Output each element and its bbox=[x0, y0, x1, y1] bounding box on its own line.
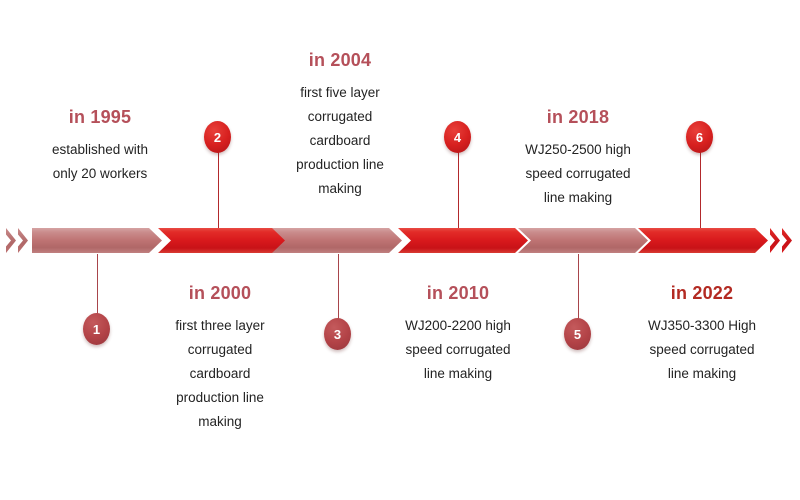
timeline-segment-6[interactable] bbox=[638, 228, 768, 253]
trail-chevron-outer-icon bbox=[782, 228, 793, 253]
entry-description-line: first five layer bbox=[250, 81, 430, 105]
entry-description-line: line making bbox=[368, 362, 548, 386]
entry-description-line: line making bbox=[612, 362, 792, 386]
marker-stem-3 bbox=[338, 254, 339, 319]
entry-year-label-1: in 1995 bbox=[10, 107, 190, 128]
entry-year-label-2: in 2000 bbox=[130, 283, 310, 304]
timeline-entry-3: in 2004first five layercorrugatedcardboa… bbox=[250, 50, 430, 201]
timeline-entry-2: in 2000first three layercorrugatedcardbo… bbox=[130, 283, 310, 434]
entry-description-line: first three layer bbox=[130, 314, 310, 338]
entry-description-line: only 20 workers bbox=[10, 162, 190, 186]
timeline-segment-2[interactable] bbox=[158, 228, 288, 253]
marker-stem-2 bbox=[218, 150, 219, 228]
entry-description-line: making bbox=[250, 177, 430, 201]
entry-description-line: WJ250-2500 high bbox=[488, 138, 668, 162]
timeline-marker-6[interactable]: 6 bbox=[686, 121, 713, 153]
timeline-marker-1[interactable]: 1 bbox=[83, 313, 110, 345]
entry-description-3: first five layercorrugatedcardboardprodu… bbox=[250, 81, 430, 201]
marker-stem-4 bbox=[458, 150, 459, 228]
marker-stem-6 bbox=[700, 150, 701, 228]
marker-stem-5 bbox=[578, 254, 579, 319]
timeline-segment-5[interactable] bbox=[518, 228, 648, 253]
entry-description-line: WJ200-2200 high bbox=[368, 314, 548, 338]
timeline-marker-4[interactable]: 4 bbox=[444, 121, 471, 153]
timeline-entry-5: in 2018WJ250-2500 highspeed corrugatedli… bbox=[488, 107, 668, 210]
entry-description-line: WJ350-3300 High bbox=[612, 314, 792, 338]
entry-description-line: established with bbox=[10, 138, 190, 162]
entry-description-line: line making bbox=[488, 186, 668, 210]
entry-description-line: corrugated bbox=[130, 338, 310, 362]
timeline-entry-4: in 2010WJ200-2200 highspeed corrugatedli… bbox=[368, 283, 548, 386]
entry-description-line: production line bbox=[250, 153, 430, 177]
entry-description-line: speed corrugated bbox=[612, 338, 792, 362]
timeline-infographic: 123456 in 1995established withonly 20 wo… bbox=[0, 0, 800, 500]
entry-description-line: production line bbox=[130, 386, 310, 410]
entry-description-line: corrugated bbox=[250, 105, 430, 129]
entry-year-label-4: in 2010 bbox=[368, 283, 548, 304]
lead-chevron-outer-icon bbox=[6, 228, 17, 253]
marker-stem-1 bbox=[97, 254, 98, 314]
entry-description-line: speed corrugated bbox=[368, 338, 548, 362]
timeline-entry-6: in 2022WJ350-3300 Highspeed corrugatedli… bbox=[612, 283, 792, 386]
timeline-marker-5[interactable]: 5 bbox=[564, 318, 591, 350]
entry-description-6: WJ350-3300 Highspeed corrugatedline maki… bbox=[612, 314, 792, 386]
entry-description-4: WJ200-2200 highspeed corrugatedline maki… bbox=[368, 314, 548, 386]
timeline-segment-4[interactable] bbox=[398, 228, 528, 253]
entry-year-label-6: in 2022 bbox=[612, 283, 792, 304]
timeline-marker-2[interactable]: 2 bbox=[204, 121, 231, 153]
entry-year-label-3: in 2004 bbox=[250, 50, 430, 71]
timeline-arrow-bar bbox=[0, 227, 800, 255]
timeline-entry-1: in 1995established withonly 20 workers bbox=[10, 107, 190, 186]
timeline-segment-1[interactable] bbox=[32, 228, 162, 253]
trail-chevron-inner-icon bbox=[770, 228, 781, 253]
entry-description-line: speed corrugated bbox=[488, 162, 668, 186]
entry-description-line: making bbox=[130, 410, 310, 434]
entry-year-label-5: in 2018 bbox=[488, 107, 668, 128]
entry-description-5: WJ250-2500 highspeed corrugatedline maki… bbox=[488, 138, 668, 210]
entry-description-2: first three layercorrugatedcardboardprod… bbox=[130, 314, 310, 434]
timeline-marker-3[interactable]: 3 bbox=[324, 318, 351, 350]
entry-description-line: cardboard bbox=[130, 362, 310, 386]
timeline-segment-3[interactable] bbox=[272, 228, 402, 253]
entry-description-1: established withonly 20 workers bbox=[10, 138, 190, 186]
lead-chevron-inner-icon bbox=[18, 228, 29, 253]
entry-description-line: cardboard bbox=[250, 129, 430, 153]
